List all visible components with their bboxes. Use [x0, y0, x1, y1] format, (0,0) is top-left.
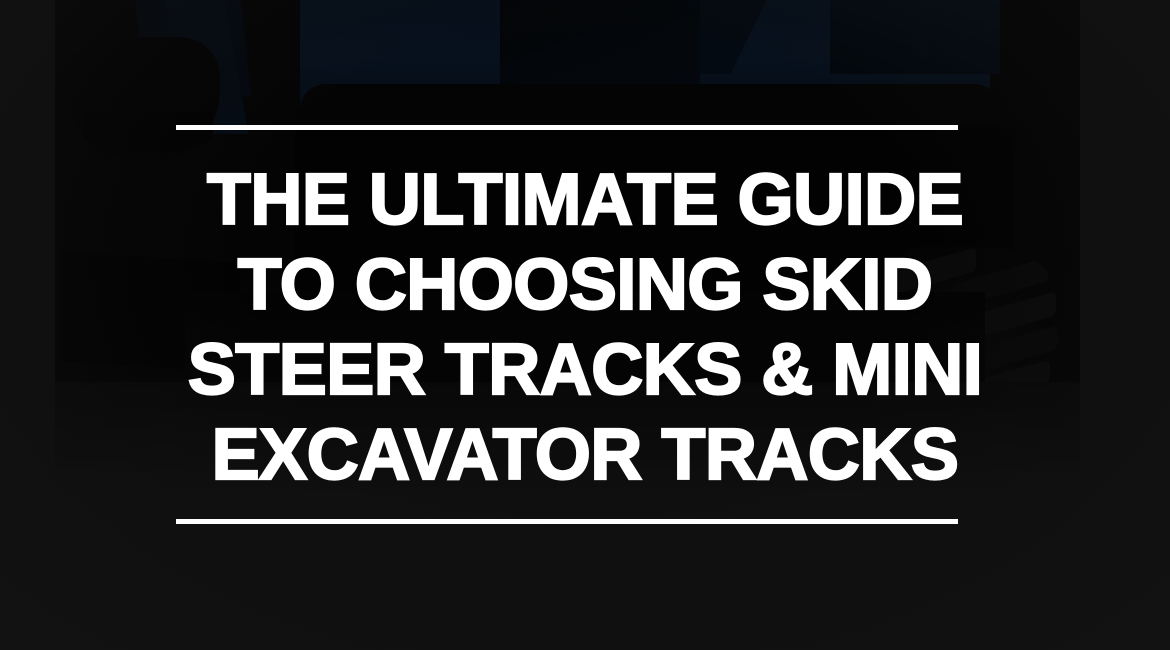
hero-content: THE ULTIMATE GUIDE TO CHOOSING SKID STEE…: [0, 0, 1170, 650]
headline-line-4: EXCAVATOR TRACKS: [0, 413, 1170, 498]
hero-headline: THE ULTIMATE GUIDE TO CHOOSING SKID STEE…: [0, 158, 1170, 498]
headline-line-3: STEER TRACKS & MINI: [0, 328, 1170, 413]
headline-line-1: THE ULTIMATE GUIDE: [0, 158, 1170, 243]
bottom-divider-rule: [176, 519, 958, 524]
blog-hero-banner: THE ULTIMATE GUIDE TO CHOOSING SKID STEE…: [0, 0, 1170, 650]
headline-line-2: TO CHOOSING SKID: [0, 243, 1170, 328]
top-divider-rule: [176, 125, 958, 130]
